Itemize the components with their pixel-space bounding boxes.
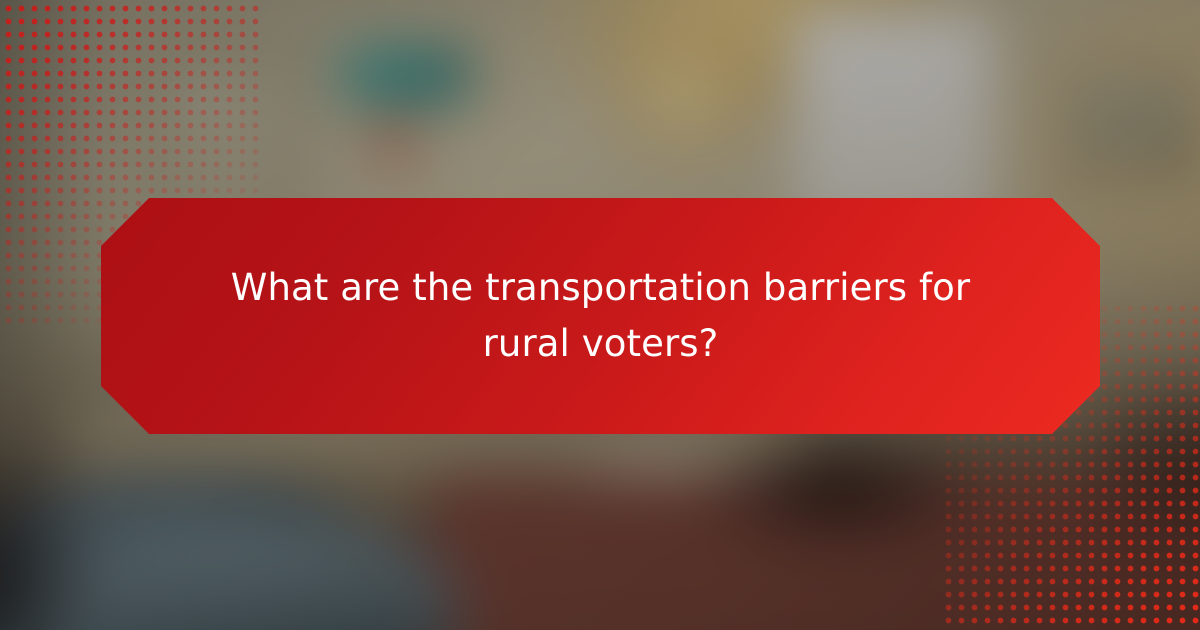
page-title: What are the transportation barriers for… [221,260,980,372]
headline-banner: What are the transportation barriers for… [101,198,1100,434]
social-card: What are the transportation barriers for… [0,0,1200,630]
